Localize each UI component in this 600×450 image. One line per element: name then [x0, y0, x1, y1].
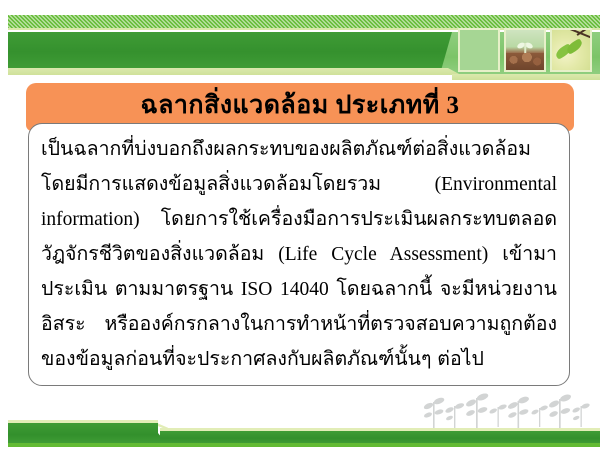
slide-title: ฉลากสิ่งแวดล้อม ประเภทที่ 3	[26, 85, 574, 125]
blank-green-tile-icon	[458, 28, 500, 72]
sprouts-icon	[420, 388, 600, 430]
soil-icon	[506, 53, 544, 70]
top-textured-strip	[8, 15, 600, 28]
header-underline-right	[452, 74, 600, 80]
leaf-upper-icon	[565, 38, 584, 55]
seedling-in-soil-photo-icon	[504, 28, 546, 72]
slide-canvas: ฉลากสิ่งแวดล้อม ประเภทที่ 3 เป็นฉลากที่บ…	[0, 0, 600, 450]
bottom-bar-right	[160, 431, 600, 443]
bottom-bar-left	[8, 423, 158, 443]
header-underline-left	[8, 68, 448, 75]
sprout-silhouettes-decoration	[420, 388, 600, 430]
body-text: เป็นฉลากที่บ่งบอกถึงผลกระทบของผลิตภัณฑ์ต…	[41, 132, 557, 377]
bottom-bar-base	[8, 443, 600, 447]
header-thumbnail-strip	[458, 28, 598, 72]
body-content-box: เป็นฉลากที่บ่งบอกถึงผลกระทบของผลิตภัณฑ์ต…	[28, 123, 570, 386]
seedling-leaf-right-icon	[525, 42, 534, 50]
body-paragraph: เป็นฉลากที่บ่งบอกถึงผลกระทบของผลิตภัณฑ์ต…	[41, 132, 557, 377]
green-leaves-branch-photo-icon	[550, 28, 592, 72]
